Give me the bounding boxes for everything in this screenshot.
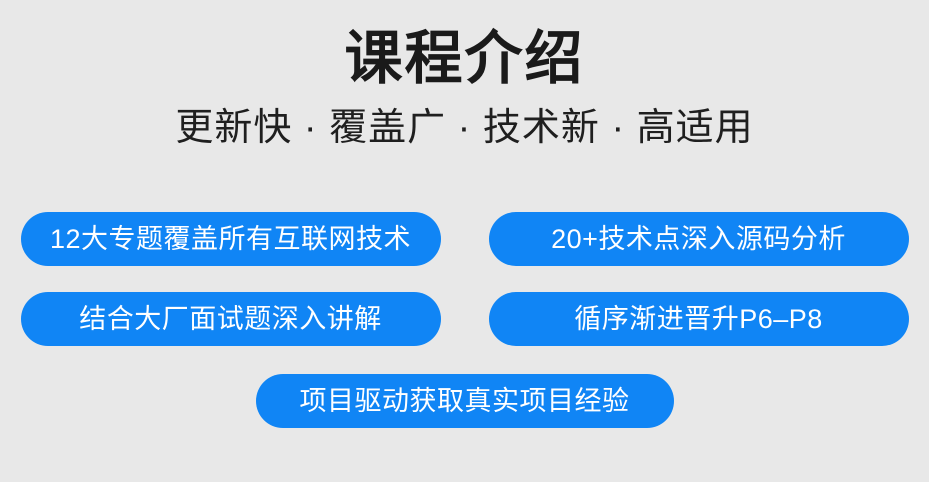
course-intro-poster: 课程介绍 更新快 · 覆盖广 · 技术新 · 高适用 12大专题覆盖所有互联网技…: [0, 0, 929, 482]
feature-pill-project-driven[interactable]: 项目驱动获取真实项目经验: [256, 374, 674, 428]
feature-pill-topics-coverage[interactable]: 12大专题覆盖所有互联网技术: [21, 212, 441, 266]
page-subtitle: 更新快 · 覆盖广 · 技术新 · 高适用: [0, 106, 929, 150]
page-title: 课程介绍: [0, 26, 929, 92]
feature-row-3: 项目驱动获取真实项目经验: [0, 374, 929, 428]
feature-pill-interview-questions[interactable]: 结合大厂面试题深入讲解: [21, 292, 441, 346]
feature-row-1: 12大专题覆盖所有互联网技术 20+技术点深入源码分析: [0, 212, 929, 266]
feature-pill-area: 12大专题覆盖所有互联网技术 20+技术点深入源码分析 结合大厂面试题深入讲解 …: [0, 212, 929, 442]
feature-pill-career-promotion[interactable]: 循序渐进晋升P6–P8: [489, 292, 909, 346]
feature-pill-source-code-analysis[interactable]: 20+技术点深入源码分析: [489, 212, 909, 266]
feature-row-2: 结合大厂面试题深入讲解 循序渐进晋升P6–P8: [0, 292, 929, 346]
heading-block: 课程介绍 更新快 · 覆盖广 · 技术新 · 高适用: [0, 26, 929, 150]
